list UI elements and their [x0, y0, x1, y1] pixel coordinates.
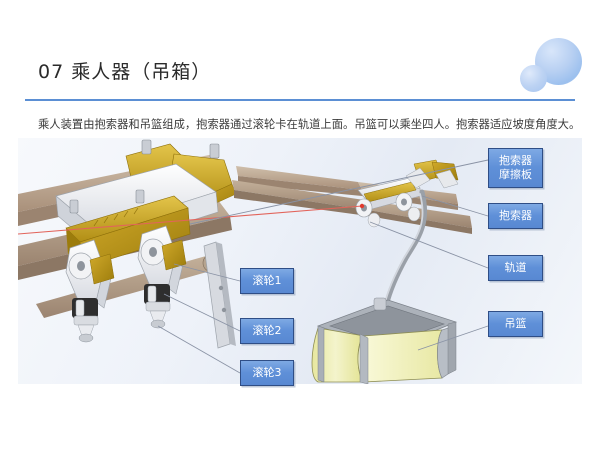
roller-arm-left-1: [66, 240, 114, 342]
callout-line: 滚轮1: [253, 274, 282, 288]
cabin: [312, 298, 456, 384]
callout-friction-plate[interactable]: 抱索器 摩擦板: [488, 148, 543, 188]
title-divider: [25, 99, 575, 101]
page-title: 07 乘人器（吊箱）: [38, 57, 211, 84]
decorative-circles: [510, 30, 600, 105]
callout-grip[interactable]: 抱索器: [488, 203, 543, 229]
callout-line: 滚轮2: [253, 324, 282, 338]
slide-canvas: 07 乘人器（吊箱） 乘人装置由抱索器和吊篮组成，抱索器通过滚轮卡在轨道上面。吊…: [0, 0, 600, 450]
callout-line: 滚轮3: [253, 366, 282, 380]
callout-roller-1[interactable]: 滚轮1: [240, 268, 294, 294]
callout-rail[interactable]: 轨道: [488, 255, 543, 281]
support-post: [204, 242, 236, 348]
small-blue-circle-icon: [520, 65, 547, 92]
callout-line: 轨道: [505, 261, 527, 275]
callout-roller-2[interactable]: 滚轮2: [240, 318, 294, 344]
body-paragraph: 乘人装置由抱索器和吊篮组成，抱索器通过滚轮卡在轨道上面。吊篮可以乘坐四人。抱索器…: [38, 117, 568, 132]
callout-line: 抱索器: [499, 209, 532, 223]
callout-line: 抱索器: [499, 154, 532, 168]
callout-cabin[interactable]: 吊篮: [488, 311, 543, 337]
callout-roller-3[interactable]: 滚轮3: [240, 360, 294, 386]
callout-line: 吊篮: [505, 317, 527, 331]
callout-line: 摩擦板: [499, 168, 532, 182]
